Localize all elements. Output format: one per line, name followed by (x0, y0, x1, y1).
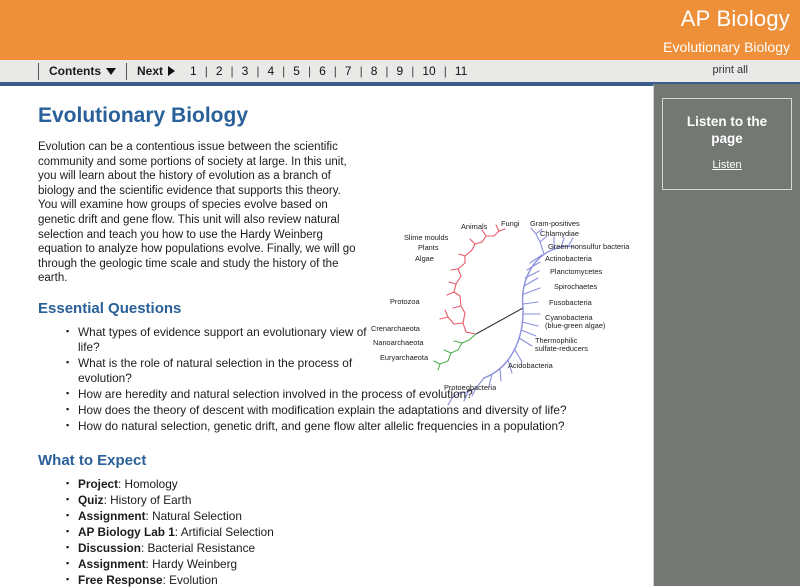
tree-label-actinobacteria: Actinobacteria (545, 254, 593, 263)
essential-question-item: What types of evidence support an evolut… (66, 325, 378, 355)
page-number-separator: | (329, 64, 342, 78)
tree-label-plants: Plants (418, 243, 439, 252)
tree-label-protozoa: Protozoa (390, 297, 420, 306)
page-number-5[interactable]: 5 (290, 64, 303, 78)
tree-label-animals: Animals (461, 222, 488, 231)
right-rail: Listen to the page Listen (654, 84, 800, 586)
page-number-10[interactable]: 10 (419, 64, 438, 78)
page-number-list: 1|2|3|4|5|6|7|8|9|10|11 (187, 64, 470, 78)
page-number-11[interactable]: 11 (452, 64, 470, 78)
what-to-expect-item: AP Biology Lab 1: Artificial Selection (66, 525, 639, 540)
item-kind: Assignment (78, 509, 146, 523)
tree-label-green-nonsulfur: Green nonsulfur bacteria (548, 242, 630, 251)
item-kind: Project (78, 477, 118, 491)
essential-question-item: How do natural selection, genetic drift,… (66, 419, 639, 434)
item-value: : Hardy Weinberg (146, 557, 238, 571)
tree-label-planctomycetes: Planctomycetes (550, 267, 602, 276)
what-to-expect-item: Free Response: Evolution (66, 573, 639, 588)
page-number-7[interactable]: 7 (342, 64, 355, 78)
page-header: AP Biology Evolutionary Biology (0, 0, 800, 60)
what-to-expect-heading: What to Expect (38, 452, 639, 469)
unit-subtitle: Evolutionary Biology (0, 30, 790, 54)
body-wrapper: Evolutionary Biology (0, 84, 800, 586)
item-value: : Bacterial Resistance (141, 541, 255, 555)
what-to-expect-item: Quiz: History of Earth (66, 493, 639, 508)
item-value: : History of Earth (104, 493, 192, 507)
site-title: AP Biology (0, 0, 790, 30)
page-number-separator: | (277, 64, 290, 78)
tree-label-algae: Algae (415, 254, 434, 263)
tree-label-spirochaetes: Spirochaetes (554, 282, 597, 291)
page-number-2[interactable]: 2 (213, 64, 226, 78)
page-number-separator: | (251, 64, 264, 78)
page-number-8[interactable]: 8 (368, 64, 381, 78)
tree-label-slime-moulds: Slime moulds (404, 233, 449, 242)
triangle-right-icon (168, 66, 175, 76)
tree-label-fungi: Fungi (501, 219, 520, 228)
item-kind: AP Biology Lab 1 (78, 525, 175, 539)
what-to-expect-item: Assignment: Natural Selection (66, 509, 639, 524)
page-root: AP Biology Evolutionary Biology Contents… (0, 0, 800, 588)
page-number-3[interactable]: 3 (239, 64, 252, 78)
listen-to-page-box: Listen to the page Listen (662, 98, 792, 190)
essential-question-item: How does the theory of descent with modi… (66, 403, 639, 418)
item-kind: Discussion (78, 541, 141, 555)
item-kind: Assignment (78, 557, 146, 571)
next-label: Next (137, 64, 163, 78)
tree-label-euryarchaeota: Euryarchaeota (380, 353, 429, 362)
page-number-4[interactable]: 4 (264, 64, 277, 78)
listen-link[interactable]: Listen (712, 159, 741, 171)
tree-label-crenarchaeota: Crenarchaeota (371, 324, 421, 333)
chevron-down-icon (106, 68, 116, 75)
essential-question-item: How are heredity and natural selection i… (66, 387, 639, 402)
intro-paragraph: Evolution can be a contentious issue bet… (38, 140, 358, 286)
navigation-bar: Contents Next 1|2|3|4|5|6|7|8|9|10|11 pr… (0, 60, 800, 84)
item-kind: Free Response (78, 573, 163, 587)
what-to-expect-list: Project: HomologyQuiz: History of EarthA… (38, 477, 639, 588)
nav-divider (38, 63, 39, 80)
next-button[interactable]: Next (135, 64, 177, 78)
item-value: : Artificial Selection (175, 525, 274, 539)
tree-label-nanoarchaeota: Nanoarchaeota (373, 338, 424, 347)
page-number-separator: | (406, 64, 419, 78)
main-content: Evolutionary Biology (0, 84, 654, 586)
page-number-separator: | (303, 64, 316, 78)
item-kind: Quiz (78, 493, 104, 507)
page-title: Evolutionary Biology (38, 104, 639, 128)
page-number-separator: | (200, 64, 213, 78)
contents-label: Contents (49, 64, 101, 78)
page-number-1[interactable]: 1 (187, 64, 200, 78)
tree-label-cyanobacteria-sub: (blue-green algae) (545, 321, 605, 330)
tree-label-chlamydiae: Chlamydiae (540, 229, 579, 238)
item-value: : Homology (118, 477, 178, 491)
page-number-separator: | (355, 64, 368, 78)
page-number-separator: | (380, 64, 393, 78)
what-to-expect-item: Discussion: Bacterial Resistance (66, 541, 639, 556)
tree-label-fusobacteria: Fusobacteria (549, 298, 593, 307)
what-to-expect-item: Assignment: Hardy Weinberg (66, 557, 639, 572)
what-to-expect-item: Project: Homology (66, 477, 639, 492)
print-all-link[interactable]: print all (713, 64, 748, 76)
tree-label-gram-positives: Gram-positives (530, 219, 580, 228)
tree-label-sulfate-reducers: sulfate-reducers (535, 344, 588, 353)
essential-question-item: What is the role of natural selection in… (66, 356, 378, 386)
tree-label-acidobacteria: Acidobacteria (508, 361, 554, 370)
listen-box-title: Listen to the page (671, 113, 783, 147)
page-number-6[interactable]: 6 (316, 64, 329, 78)
item-value: : Natural Selection (146, 509, 242, 523)
page-number-separator: | (226, 64, 239, 78)
item-value: : Evolution (163, 573, 218, 587)
page-number-separator: | (439, 64, 452, 78)
contents-button[interactable]: Contents (47, 64, 118, 78)
nav-divider (126, 63, 127, 80)
page-number-9[interactable]: 9 (394, 64, 407, 78)
